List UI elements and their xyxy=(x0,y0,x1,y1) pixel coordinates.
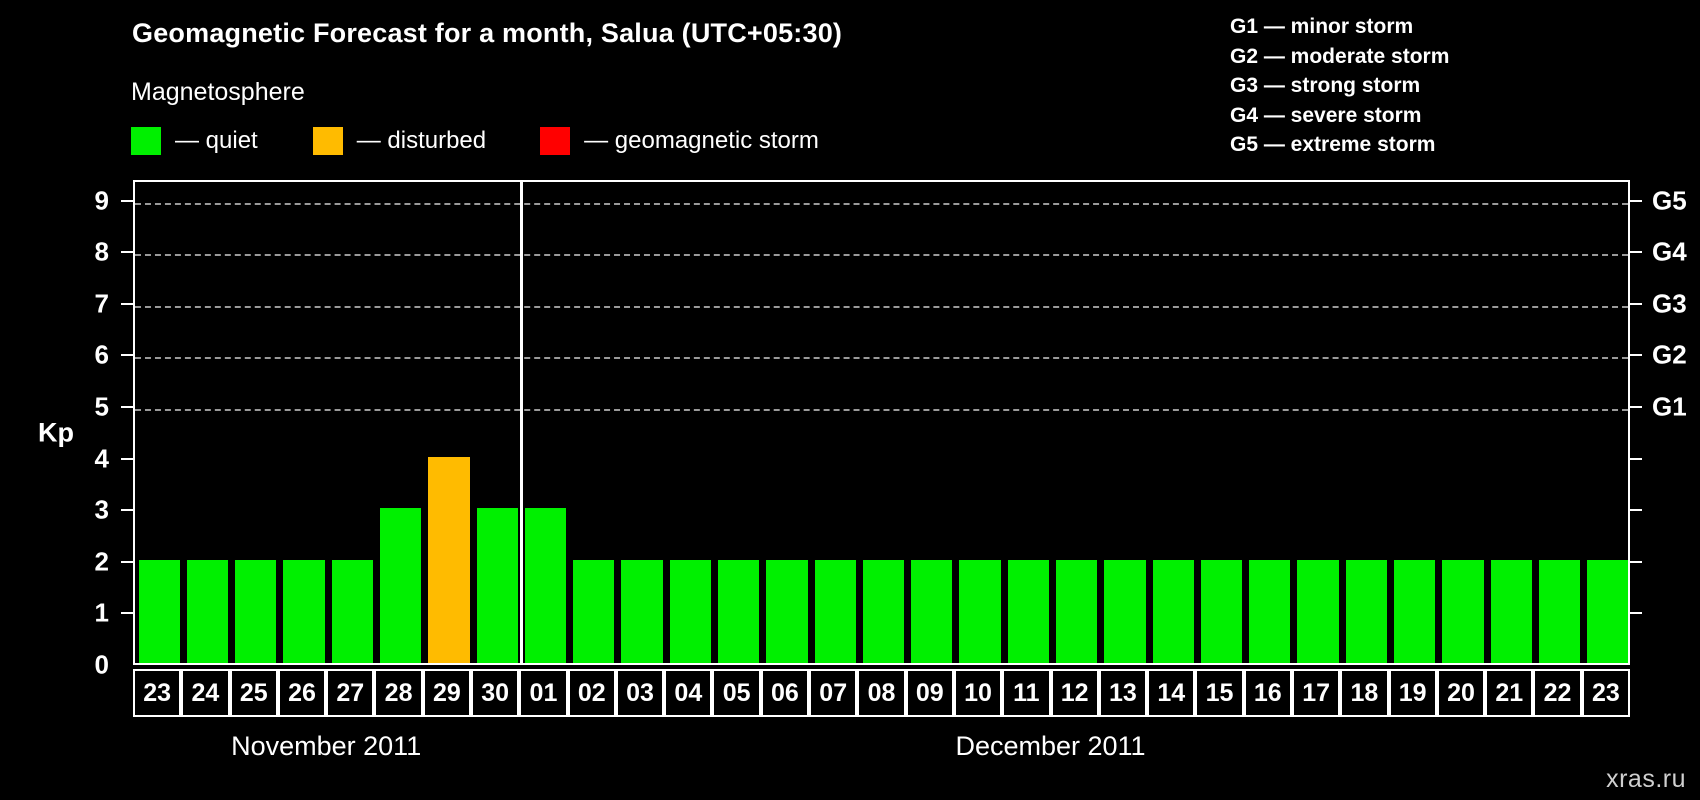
day-label-cell[interactable]: 09 xyxy=(906,669,954,717)
storm-scale-g1: G1 — minor storm xyxy=(1230,12,1449,42)
y-tick-label: 2 xyxy=(95,546,109,577)
y-tick-mark xyxy=(121,406,133,408)
day-label-cell[interactable]: 19 xyxy=(1389,669,1437,717)
day-label-cell[interactable]: 11 xyxy=(1002,669,1050,717)
legend-item-disturbed: — disturbed xyxy=(313,127,486,155)
bar[interactable] xyxy=(1297,560,1338,663)
bar-slot[interactable] xyxy=(332,178,373,663)
bar[interactable] xyxy=(1346,560,1387,663)
x-axis-day-labels: 2324252627282930010203040506070809101112… xyxy=(133,669,1630,717)
bar[interactable] xyxy=(959,560,1000,663)
month-divider xyxy=(520,182,523,663)
g-tick-label-g5: G5 xyxy=(1652,185,1687,216)
y-tick-label: 1 xyxy=(95,598,109,629)
g-tick-mark xyxy=(1630,458,1642,460)
watermark: xras.ru xyxy=(1606,765,1686,794)
y-tick-label: 0 xyxy=(95,650,109,681)
day-label-cell[interactable]: 02 xyxy=(568,669,616,717)
bar[interactable] xyxy=(1442,560,1483,663)
bar-slot[interactable] xyxy=(863,178,904,663)
g-tick-mark xyxy=(1630,303,1642,305)
y-tick-mark xyxy=(121,612,133,614)
bars-layer xyxy=(135,182,1628,663)
y-tick-label: 3 xyxy=(95,495,109,526)
day-label-cell[interactable]: 13 xyxy=(1099,669,1147,717)
y-tick-mark xyxy=(121,303,133,305)
bar[interactable] xyxy=(1008,560,1049,663)
bar-slot[interactable] xyxy=(380,178,421,663)
storm-scale-g3: G3 — strong storm xyxy=(1230,71,1449,101)
storm-scale-g5: G5 — extreme storm xyxy=(1230,130,1449,160)
bar-slot[interactable] xyxy=(1491,178,1532,663)
day-label-cell[interactable]: 23 xyxy=(1582,669,1630,717)
bar[interactable] xyxy=(621,560,662,663)
g-tick-mark xyxy=(1630,509,1642,511)
g-tick-mark xyxy=(1630,251,1642,253)
bar-slot[interactable] xyxy=(573,178,614,663)
bar-slot[interactable] xyxy=(477,178,518,663)
storm-scale-g4: G4 — severe storm xyxy=(1230,101,1449,131)
g-tick-mark xyxy=(1630,612,1642,614)
bar-slot[interactable] xyxy=(1539,178,1580,663)
y-tick-label: 7 xyxy=(95,288,109,319)
y-tick-mark xyxy=(121,354,133,356)
day-label-cell[interactable]: 22 xyxy=(1533,669,1581,717)
bar[interactable] xyxy=(1249,560,1290,663)
bar-slot[interactable] xyxy=(187,178,228,663)
bar[interactable] xyxy=(1201,560,1242,663)
bar-slot[interactable] xyxy=(1297,178,1338,663)
bar-slot[interactable] xyxy=(1587,178,1628,663)
day-label-cell[interactable]: 17 xyxy=(1292,669,1340,717)
bar[interactable] xyxy=(1394,560,1435,663)
day-label-cell[interactable]: 14 xyxy=(1147,669,1195,717)
day-label-cell[interactable]: 27 xyxy=(326,669,374,717)
bar[interactable] xyxy=(863,560,904,663)
g-tick-label-g4: G4 xyxy=(1652,237,1687,268)
bar[interactable] xyxy=(428,457,469,663)
day-label-cell[interactable]: 05 xyxy=(712,669,760,717)
bar-slot[interactable] xyxy=(283,178,324,663)
bar-slot[interactable] xyxy=(959,178,1000,663)
legend-label-storm: — geomagnetic storm xyxy=(584,127,819,155)
bar-slot[interactable] xyxy=(1201,178,1242,663)
y-tick-mark xyxy=(121,251,133,253)
day-label-cell[interactable]: 18 xyxy=(1340,669,1388,717)
day-label-cell[interactable]: 30 xyxy=(471,669,519,717)
bar[interactable] xyxy=(283,560,324,663)
bar-slot[interactable] xyxy=(1153,178,1194,663)
g-tick-label-g3: G3 xyxy=(1652,288,1687,319)
bar[interactable] xyxy=(1491,560,1532,663)
y-axis-kp: Kp 0123456789 xyxy=(0,180,133,665)
legend-label-disturbed: — disturbed xyxy=(357,127,486,155)
bar[interactable] xyxy=(1587,560,1628,663)
storm-scale-legend: G1 — minor storm G2 — moderate storm G3 … xyxy=(1230,12,1449,160)
day-label-cell[interactable]: 20 xyxy=(1437,669,1485,717)
legend: — quiet — disturbed — geomagnetic storm xyxy=(131,126,819,156)
quiet-swatch-icon xyxy=(131,127,161,155)
bar[interactable] xyxy=(1056,560,1097,663)
bar[interactable] xyxy=(670,560,711,663)
day-label-cell[interactable]: 21 xyxy=(1485,669,1533,717)
y-tick-label: 9 xyxy=(95,185,109,216)
bar-slot[interactable] xyxy=(1442,178,1483,663)
bar[interactable] xyxy=(1153,560,1194,663)
y-tick-label: 4 xyxy=(95,443,109,474)
bar[interactable] xyxy=(1539,560,1580,663)
day-label-cell[interactable]: 01 xyxy=(519,669,567,717)
legend-label-quiet: — quiet xyxy=(175,127,258,155)
bar[interactable] xyxy=(815,560,856,663)
disturbed-swatch-icon xyxy=(313,127,343,155)
bar-slot[interactable] xyxy=(1008,178,1049,663)
bar-slot[interactable] xyxy=(1249,178,1290,663)
g-tick-label-g2: G2 xyxy=(1652,340,1687,371)
day-label-cell[interactable]: 12 xyxy=(1051,669,1099,717)
bar-slot[interactable] xyxy=(815,178,856,663)
bar-slot[interactable] xyxy=(766,178,807,663)
bar[interactable] xyxy=(1104,560,1145,663)
day-label-cell[interactable]: 06 xyxy=(761,669,809,717)
legend-heading: Magnetosphere xyxy=(131,78,305,107)
page-title: Geomagnetic Forecast for a month, Salua … xyxy=(132,18,842,49)
day-label-cell[interactable]: 03 xyxy=(616,669,664,717)
day-label-cell[interactable]: 28 xyxy=(374,669,422,717)
g-tick-mark xyxy=(1630,406,1642,408)
bar[interactable] xyxy=(187,560,228,663)
day-label-cell[interactable]: 15 xyxy=(1195,669,1243,717)
bar-slot[interactable] xyxy=(621,178,662,663)
plot-area xyxy=(133,180,1630,665)
bar[interactable] xyxy=(911,560,952,663)
bar-slot[interactable] xyxy=(911,178,952,663)
storm-swatch-icon xyxy=(540,127,570,155)
bar[interactable] xyxy=(477,508,518,663)
month-caption: December 2011 xyxy=(955,731,1145,762)
day-label-cell[interactable]: 08 xyxy=(857,669,905,717)
y-tick-mark xyxy=(121,509,133,511)
day-label-cell[interactable]: 07 xyxy=(809,669,857,717)
bar[interactable] xyxy=(235,560,276,663)
y-tick-mark xyxy=(121,561,133,563)
bar-slot[interactable] xyxy=(1104,178,1145,663)
bar[interactable] xyxy=(766,560,807,663)
bar-slot[interactable] xyxy=(428,178,469,663)
y-tick-label: 8 xyxy=(95,237,109,268)
bar[interactable] xyxy=(718,560,759,663)
bar-slot[interactable] xyxy=(670,178,711,663)
day-label-cell[interactable]: 04 xyxy=(664,669,712,717)
day-label-cell[interactable]: 16 xyxy=(1244,669,1292,717)
month-caption: November 2011 xyxy=(231,731,421,762)
bar[interactable] xyxy=(380,508,421,663)
y-tick-label: 5 xyxy=(95,392,109,423)
legend-item-quiet: — quiet xyxy=(131,127,258,155)
g-tick-mark xyxy=(1630,200,1642,202)
y-tick-mark xyxy=(121,200,133,202)
bar-slot[interactable] xyxy=(1394,178,1435,663)
day-label-cell[interactable]: 24 xyxy=(181,669,229,717)
bar[interactable] xyxy=(332,560,373,663)
day-label-cell[interactable]: 29 xyxy=(423,669,471,717)
plot-inner xyxy=(135,182,1628,663)
y-axis-storm-scale: G1G2G3G4G5 xyxy=(1630,180,1700,665)
bar-slot[interactable] xyxy=(525,178,566,663)
bar-slot[interactable] xyxy=(139,178,180,663)
bar[interactable] xyxy=(139,560,180,663)
bar-slot[interactable] xyxy=(718,178,759,663)
day-label-cell[interactable]: 10 xyxy=(954,669,1002,717)
bar-slot[interactable] xyxy=(1056,178,1097,663)
storm-scale-g2: G2 — moderate storm xyxy=(1230,42,1449,72)
g-tick-mark xyxy=(1630,354,1642,356)
bar-slot[interactable] xyxy=(1346,178,1387,663)
day-label-cell[interactable]: 25 xyxy=(230,669,278,717)
day-label-cell[interactable]: 23 xyxy=(133,669,181,717)
bar-slot[interactable] xyxy=(235,178,276,663)
y-axis-label: Kp xyxy=(38,417,74,448)
day-label-cell[interactable]: 26 xyxy=(278,669,326,717)
g-tick-mark xyxy=(1630,561,1642,563)
bar[interactable] xyxy=(525,508,566,663)
y-tick-mark xyxy=(121,458,133,460)
legend-item-storm: — geomagnetic storm xyxy=(540,127,819,155)
bar[interactable] xyxy=(573,560,614,663)
y-tick-label: 6 xyxy=(95,340,109,371)
g-tick-label-g1: G1 xyxy=(1652,392,1687,423)
